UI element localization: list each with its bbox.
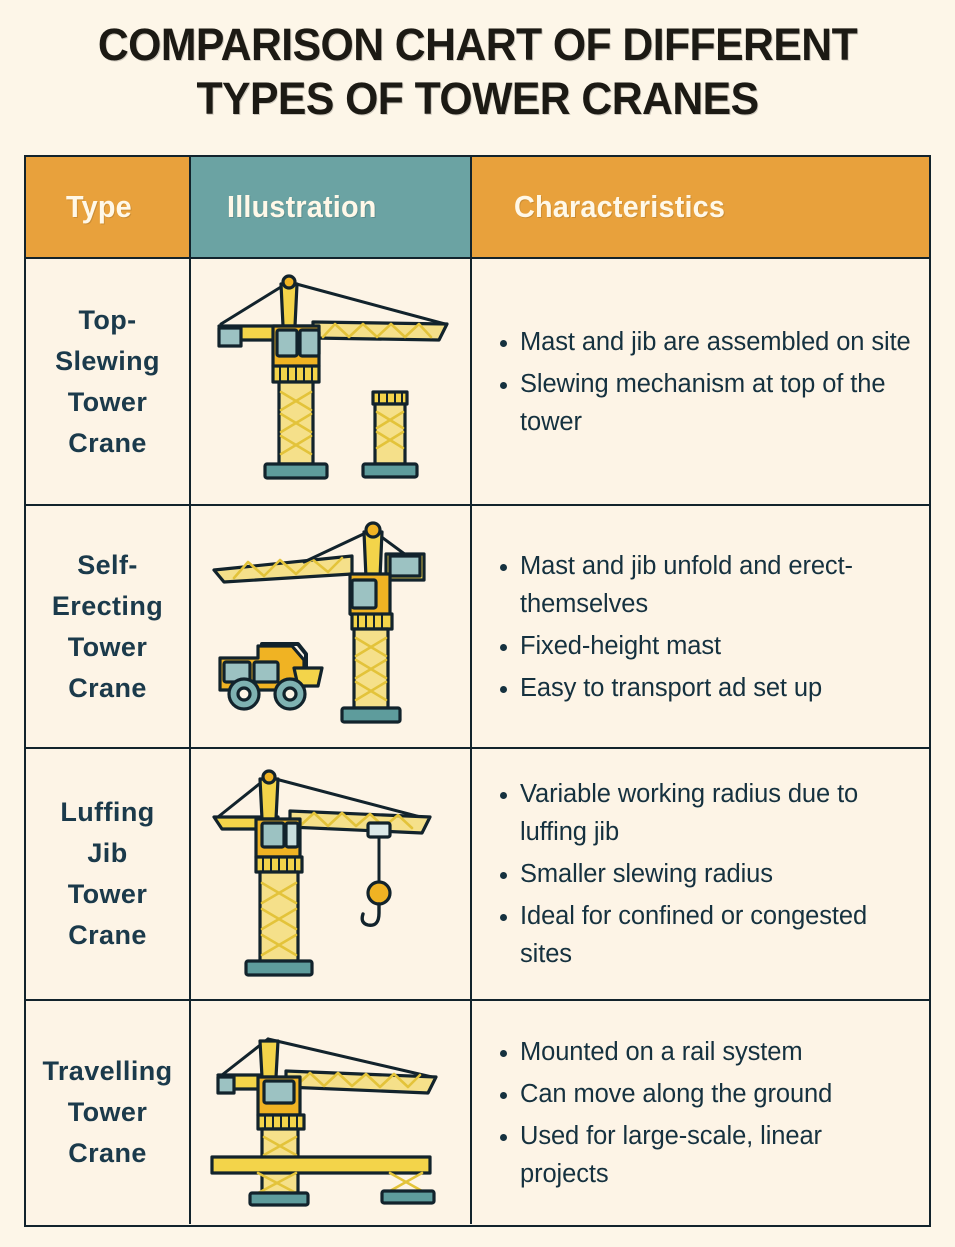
header-cell-characteristics: Characteristics — [472, 157, 929, 257]
characteristic-item: Smaller slewing radius — [520, 855, 913, 893]
type-label: LuffingJibTowerCrane — [60, 792, 154, 956]
type-cell: TravellingTowerCrane — [26, 1001, 189, 1224]
characteristic-item: Fixed-height mast — [520, 627, 913, 665]
type-label: TravellingTowerCrane — [42, 1051, 172, 1174]
characteristic-item: Can move along the ground — [520, 1075, 913, 1113]
characteristics-cell: Mounted on a rail systemCan move along t… — [472, 1001, 929, 1224]
table-row: LuffingJibTowerCrane — [26, 747, 929, 999]
table-row: TravellingTowerCrane — [26, 999, 929, 1224]
header-cell-illustration: Illustration — [189, 157, 472, 257]
characteristics-list: Mast and jib unfold and erect-themselves… — [494, 547, 913, 707]
characteristics-list: Variable working radius due to luffing j… — [494, 775, 913, 973]
illustration-cell — [189, 1001, 472, 1224]
characteristic-item: Ideal for confined or congested sites — [520, 897, 913, 973]
characteristics-cell: Variable working radius due to luffing j… — [472, 749, 929, 999]
top-slewing-tower-crane-icon — [191, 259, 470, 504]
illustration-cell — [189, 749, 472, 999]
characteristics-cell: Mast and jib unfold and erect-themselves… — [472, 506, 929, 747]
header-label-type: Type — [66, 189, 132, 225]
page-title: COMPARISON CHART OF DIFFERENT TYPES OF T… — [24, 18, 931, 126]
travelling-tower-crane-icon — [191, 1001, 470, 1224]
self-erecting-tower-crane-icon — [191, 506, 470, 747]
type-cell: Top-SlewingTowerCrane — [26, 259, 189, 504]
header-cell-type: Type — [26, 157, 189, 257]
illustration-cell — [189, 506, 472, 747]
type-cell: Self-ErectingTowerCrane — [26, 506, 189, 747]
title-line-1: COMPARISON CHART OF DIFFERENT — [24, 18, 931, 72]
characteristic-item: Slewing mechanism at top of the tower — [520, 365, 913, 441]
characteristics-list: Mounted on a rail systemCan move along t… — [494, 1033, 913, 1193]
table-row: Self-ErectingTowerCrane — [26, 504, 929, 747]
table-header-row: Type Illustration Characteristics — [26, 157, 929, 257]
characteristics-cell: Mast and jib are assembled on siteSlewin… — [472, 259, 929, 504]
characteristic-item: Variable working radius due to luffing j… — [520, 775, 913, 851]
type-cell: LuffingJibTowerCrane — [26, 749, 189, 999]
type-label: Top-SlewingTowerCrane — [55, 300, 160, 464]
characteristic-item: Used for large-scale, linear projects — [520, 1117, 913, 1193]
header-label-illustration: Illustration — [227, 189, 377, 225]
header-label-characteristics: Characteristics — [514, 189, 725, 225]
table-row: Top-SlewingTowerCrane — [26, 257, 929, 504]
characteristics-list: Mast and jib are assembled on siteSlewin… — [494, 323, 913, 441]
infographic-page: COMPARISON CHART OF DIFFERENT TYPES OF T… — [0, 0, 955, 1247]
comparison-table: Type Illustration Characteristics Top-Sl… — [24, 155, 931, 1227]
characteristic-item: Mast and jib unfold and erect-themselves — [520, 547, 913, 623]
title-line-2: TYPES OF TOWER CRANES — [24, 72, 931, 126]
characteristic-item: Mounted on a rail system — [520, 1033, 913, 1071]
illustration-cell — [189, 259, 472, 504]
type-label: Self-ErectingTowerCrane — [52, 545, 163, 709]
characteristic-item: Mast and jib are assembled on site — [520, 323, 913, 361]
luffing-jib-tower-crane-icon — [191, 749, 470, 999]
characteristic-item: Easy to transport ad set up — [520, 669, 913, 707]
